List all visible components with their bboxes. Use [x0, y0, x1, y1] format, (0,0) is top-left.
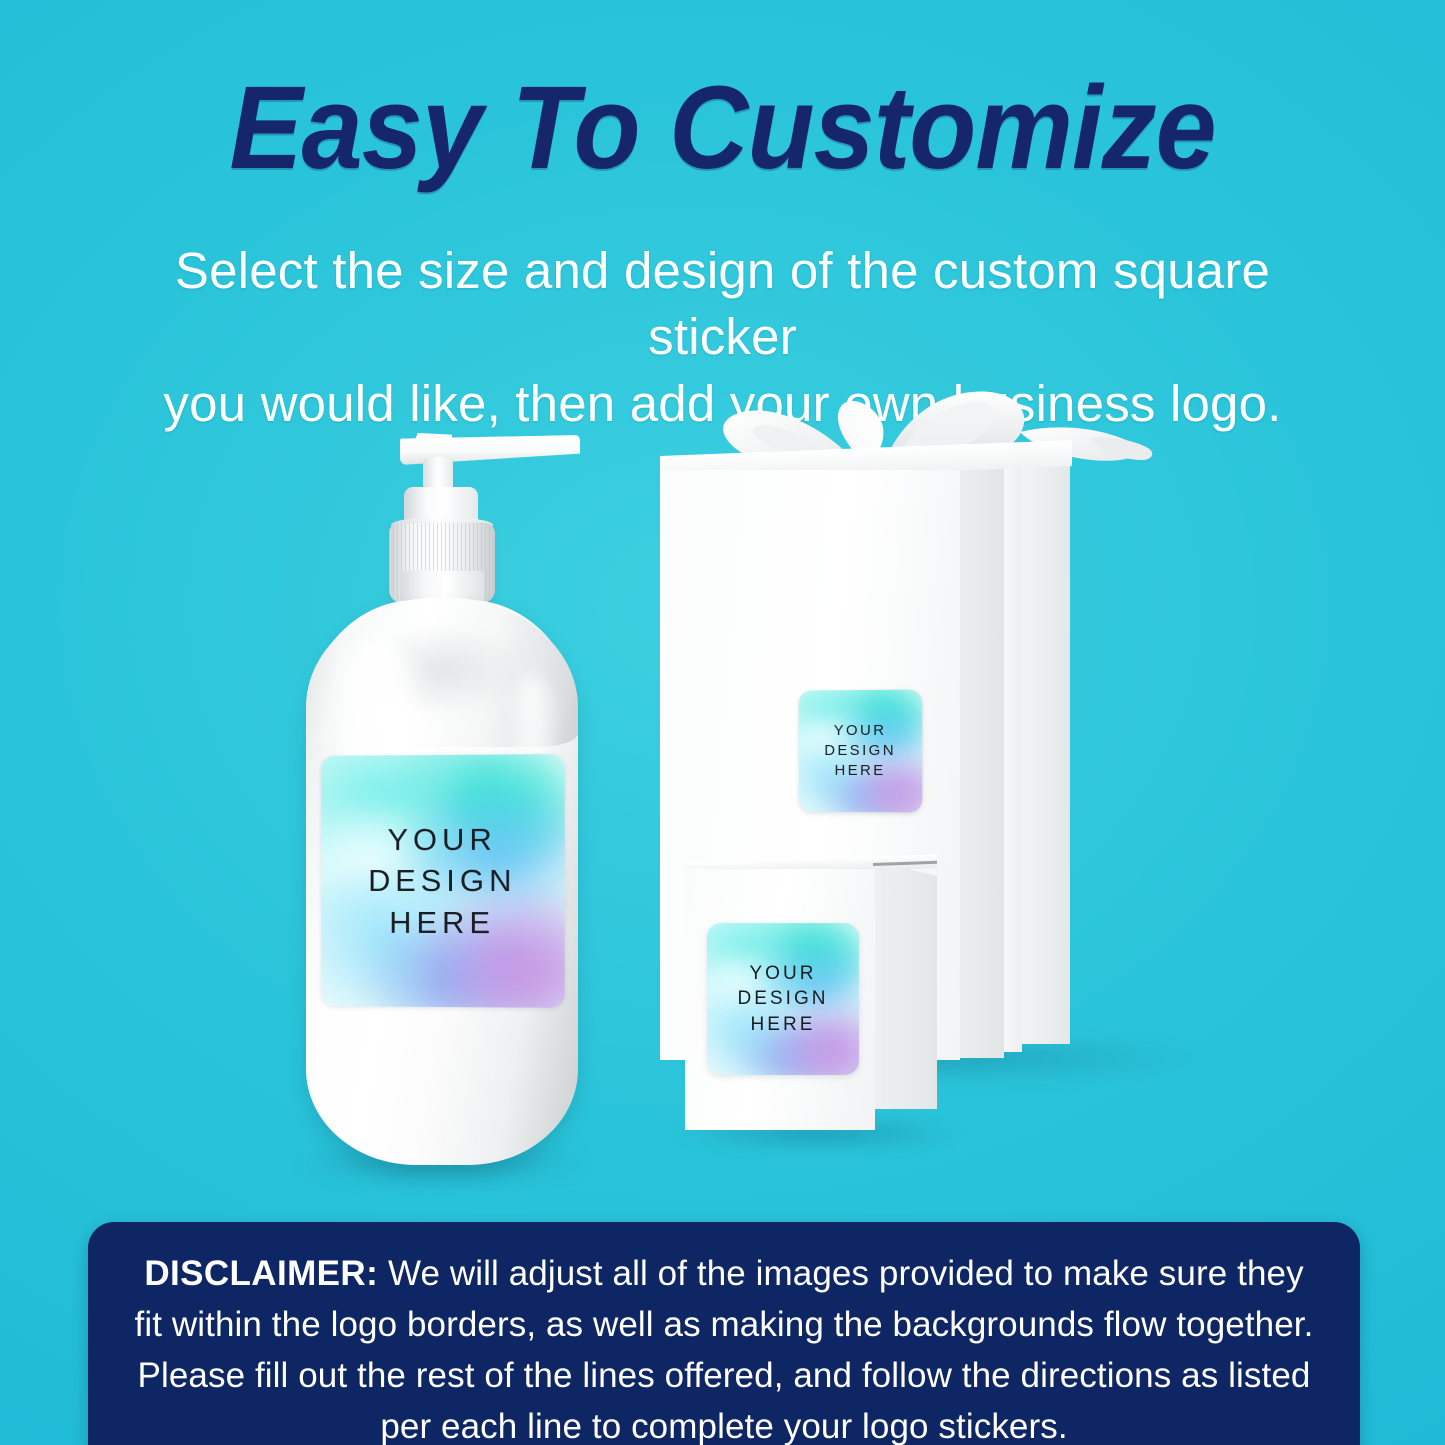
pump-bottle: YOUR DESIGN HERE: [292, 425, 592, 1165]
sticker-on-bottle: YOUR DESIGN HERE: [321, 754, 565, 1008]
sticker-on-small-box: YOUR DESIGN HERE: [707, 923, 859, 1075]
sticker-text: YOUR DESIGN HERE: [799, 689, 923, 812]
sticker-line-3: HERE: [389, 902, 495, 944]
sticker-line-1: YOUR: [388, 819, 497, 861]
gift-box-back-panel: [1022, 446, 1070, 1044]
gift-box-side-panel: [960, 458, 1004, 1058]
sticker-text: YOUR DESIGN HERE: [321, 754, 565, 1008]
disclaimer-label: DISCLAIMER:: [144, 1254, 378, 1293]
disclaimer-banner: DISCLAIMER: We will adjust all of the im…: [88, 1222, 1360, 1445]
page-title: Easy To Customize: [51, 68, 1395, 188]
sticker-line-1: YOUR: [749, 961, 816, 986]
sticker-text: YOUR DESIGN HERE: [707, 923, 859, 1075]
sticker-line-2: DESIGN: [368, 860, 516, 902]
promo-graphic-canvas: Easy To Customize Select the size and de…: [0, 0, 1445, 1445]
sticker-line-2: DESIGN: [824, 741, 896, 761]
sticker-line-3: HERE: [835, 761, 886, 781]
subtitle-line-1: Select the size and design of the custom…: [110, 238, 1335, 371]
sticker-on-gift-box: YOUR DESIGN HERE: [799, 689, 923, 812]
small-box-side-panel: [875, 861, 937, 1109]
sticker-line-3: HERE: [751, 1012, 816, 1037]
sticker-line-1: YOUR: [834, 721, 887, 741]
disclaimer-text: DISCLAIMER: We will adjust all of the im…: [130, 1248, 1318, 1445]
sticker-line-2: DESIGN: [737, 986, 828, 1011]
small-product-box: YOUR DESIGN HERE: [685, 855, 950, 1130]
gift-box-seam-panel: [1004, 452, 1022, 1052]
